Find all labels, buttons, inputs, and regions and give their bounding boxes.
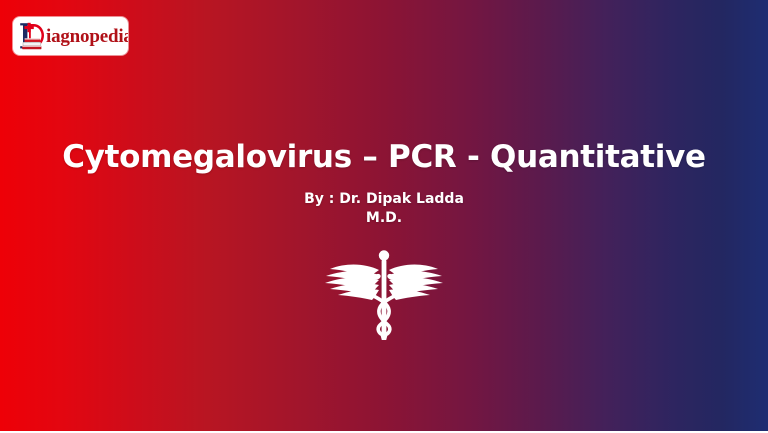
slide-title: Cytomegalovirus – PCR - Quantitative	[0, 140, 768, 176]
diagnopedia-logo[interactable]: iagnopedia	[13, 17, 128, 55]
author-name: By : Dr. Dipak Ladda	[0, 190, 768, 209]
caduceus-icon	[322, 248, 446, 342]
logo-wordmark: iagnopedia	[46, 27, 128, 46]
author-degree: M.D.	[0, 209, 768, 228]
author-byline: By : Dr. Dipak Ladda M.D.	[0, 190, 768, 228]
presentation-slide: iagnopedia Cytomegalovirus – PCR - Quant…	[0, 0, 768, 433]
medical-cross-books-icon	[18, 19, 48, 53]
